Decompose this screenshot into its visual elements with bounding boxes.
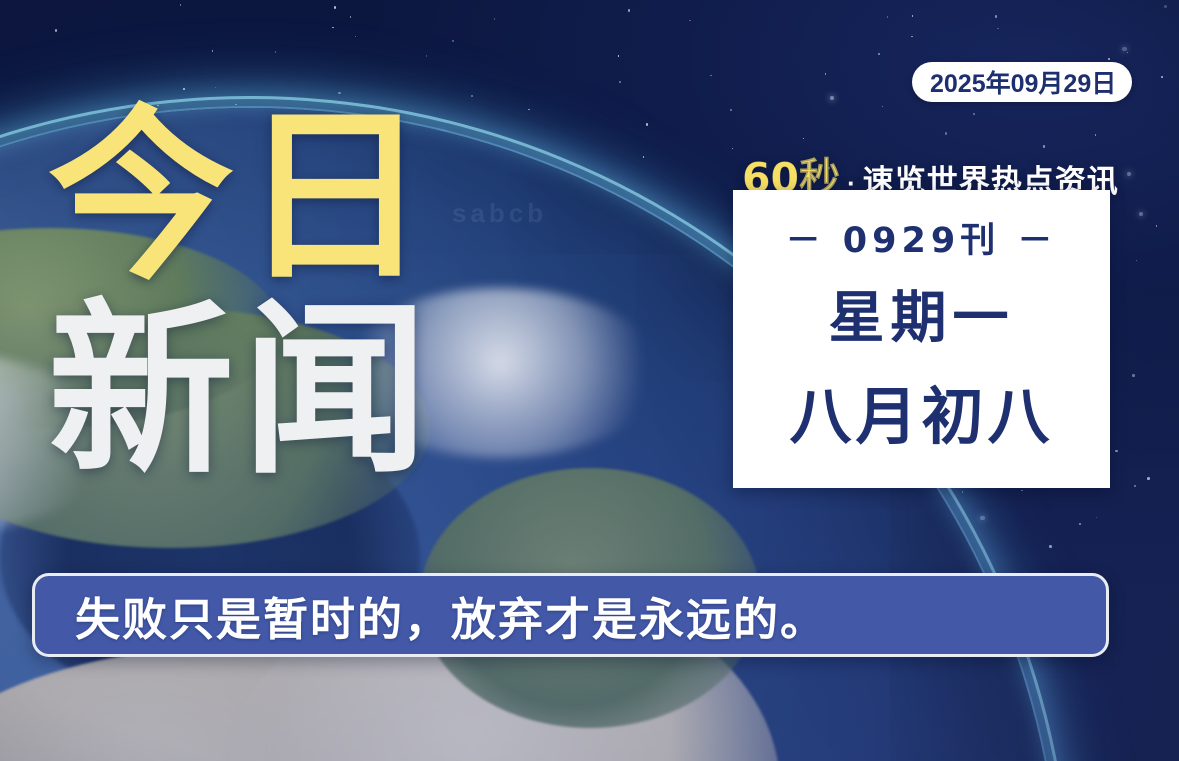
date-badge: 2025年09月29日 [912, 62, 1132, 102]
news-poster: sabcb 2025年09月29日 60秒 · 速览世界热点资讯 今日 新闻 －… [0, 0, 1179, 761]
issue-number: － 0929刊 － [786, 212, 1058, 263]
quote-banner: 失败只是暂时的，放弃才是永远的。 [32, 573, 1109, 657]
issue-card: － 0929刊 － 星期一 八月初八 [733, 190, 1110, 488]
page-title-line-2: 新闻 [48, 298, 436, 484]
watermark-text: sabcb [452, 198, 547, 229]
page-title: 今日 新闻 [48, 104, 436, 484]
page-title-line-1: 今日 [48, 104, 436, 290]
weekday-label: 星期一 [829, 273, 1015, 354]
lunar-date: 八月初八 [789, 366, 1053, 456]
quote-text: 失败只是暂时的，放弃才是永远的。 [75, 583, 827, 648]
